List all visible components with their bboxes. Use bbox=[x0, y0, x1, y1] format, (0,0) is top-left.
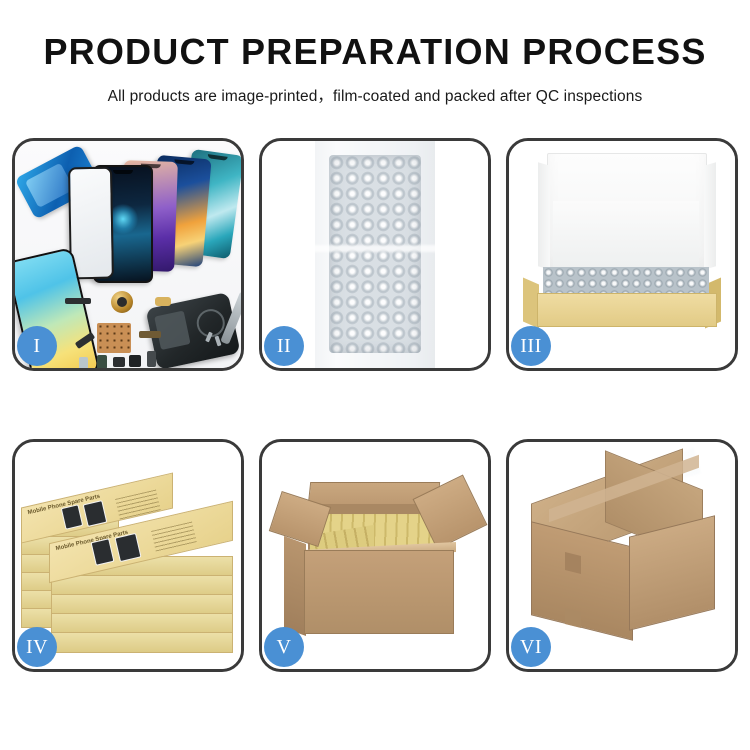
notch-icon bbox=[174, 159, 194, 165]
kraft-box-front bbox=[537, 293, 717, 327]
notch-icon bbox=[207, 154, 227, 161]
phone-fan bbox=[67, 149, 241, 279]
carton-front-face bbox=[531, 521, 633, 640]
process-grid: I II III bbox=[12, 138, 738, 672]
battery-connector-part bbox=[147, 351, 156, 367]
carton-left-face bbox=[284, 536, 306, 636]
header: PRODUCT PREPARATION PROCESS All products… bbox=[0, 0, 750, 106]
panel-step-2: II bbox=[259, 138, 491, 371]
carton-side-face bbox=[629, 515, 715, 630]
step-badge-1: I bbox=[17, 326, 57, 366]
ic-chip-part bbox=[129, 355, 141, 367]
bubble-wrap-contents bbox=[543, 267, 709, 295]
screws-icon bbox=[207, 332, 225, 350]
connector-part bbox=[155, 297, 171, 306]
panel-step-5: V bbox=[259, 439, 491, 672]
sim-tray-part bbox=[79, 357, 88, 368]
step-badge-4: IV bbox=[17, 627, 57, 667]
speaker-part bbox=[113, 357, 125, 367]
step-badge-5: V bbox=[264, 627, 304, 667]
panel-step-1: I bbox=[12, 138, 244, 371]
step-badge-3: III bbox=[511, 326, 551, 366]
kraft-box-stack: Mobile Phone Spare Parts Mobile Phone Sp… bbox=[21, 456, 237, 660]
carton-front-face bbox=[304, 550, 454, 634]
camera-module-part bbox=[97, 355, 107, 368]
step-badge-6: VI bbox=[511, 627, 551, 667]
chip-array-part bbox=[97, 323, 131, 353]
carton-flap-tab bbox=[565, 552, 581, 574]
kraft-box-side bbox=[51, 632, 233, 653]
step-badge-2: II bbox=[264, 326, 304, 366]
page-title: PRODUCT PREPARATION PROCESS bbox=[0, 34, 750, 70]
panel-step-4: Mobile Phone Spare Parts Mobile Phone Sp… bbox=[12, 439, 244, 672]
panel-step-6: VI bbox=[506, 439, 738, 672]
carton-flap-tab bbox=[565, 608, 581, 628]
bubble-wrap-pack bbox=[329, 155, 421, 353]
film-highlight bbox=[313, 245, 437, 252]
flex-cable-part bbox=[65, 298, 91, 304]
panel-step-3: III bbox=[506, 138, 738, 371]
kraft-box-side bbox=[51, 613, 233, 634]
kraft-box-side bbox=[51, 575, 233, 596]
ribbon-part bbox=[139, 331, 161, 338]
infographic-page: PRODUCT PREPARATION PROCESS All products… bbox=[0, 0, 750, 750]
notch-icon bbox=[113, 170, 133, 174]
kraft-box-side bbox=[51, 594, 233, 615]
page-subtitle: All products are image-printed，film-coat… bbox=[0, 84, 750, 106]
foam-insert bbox=[553, 201, 699, 269]
copper-coil-part bbox=[111, 291, 133, 313]
